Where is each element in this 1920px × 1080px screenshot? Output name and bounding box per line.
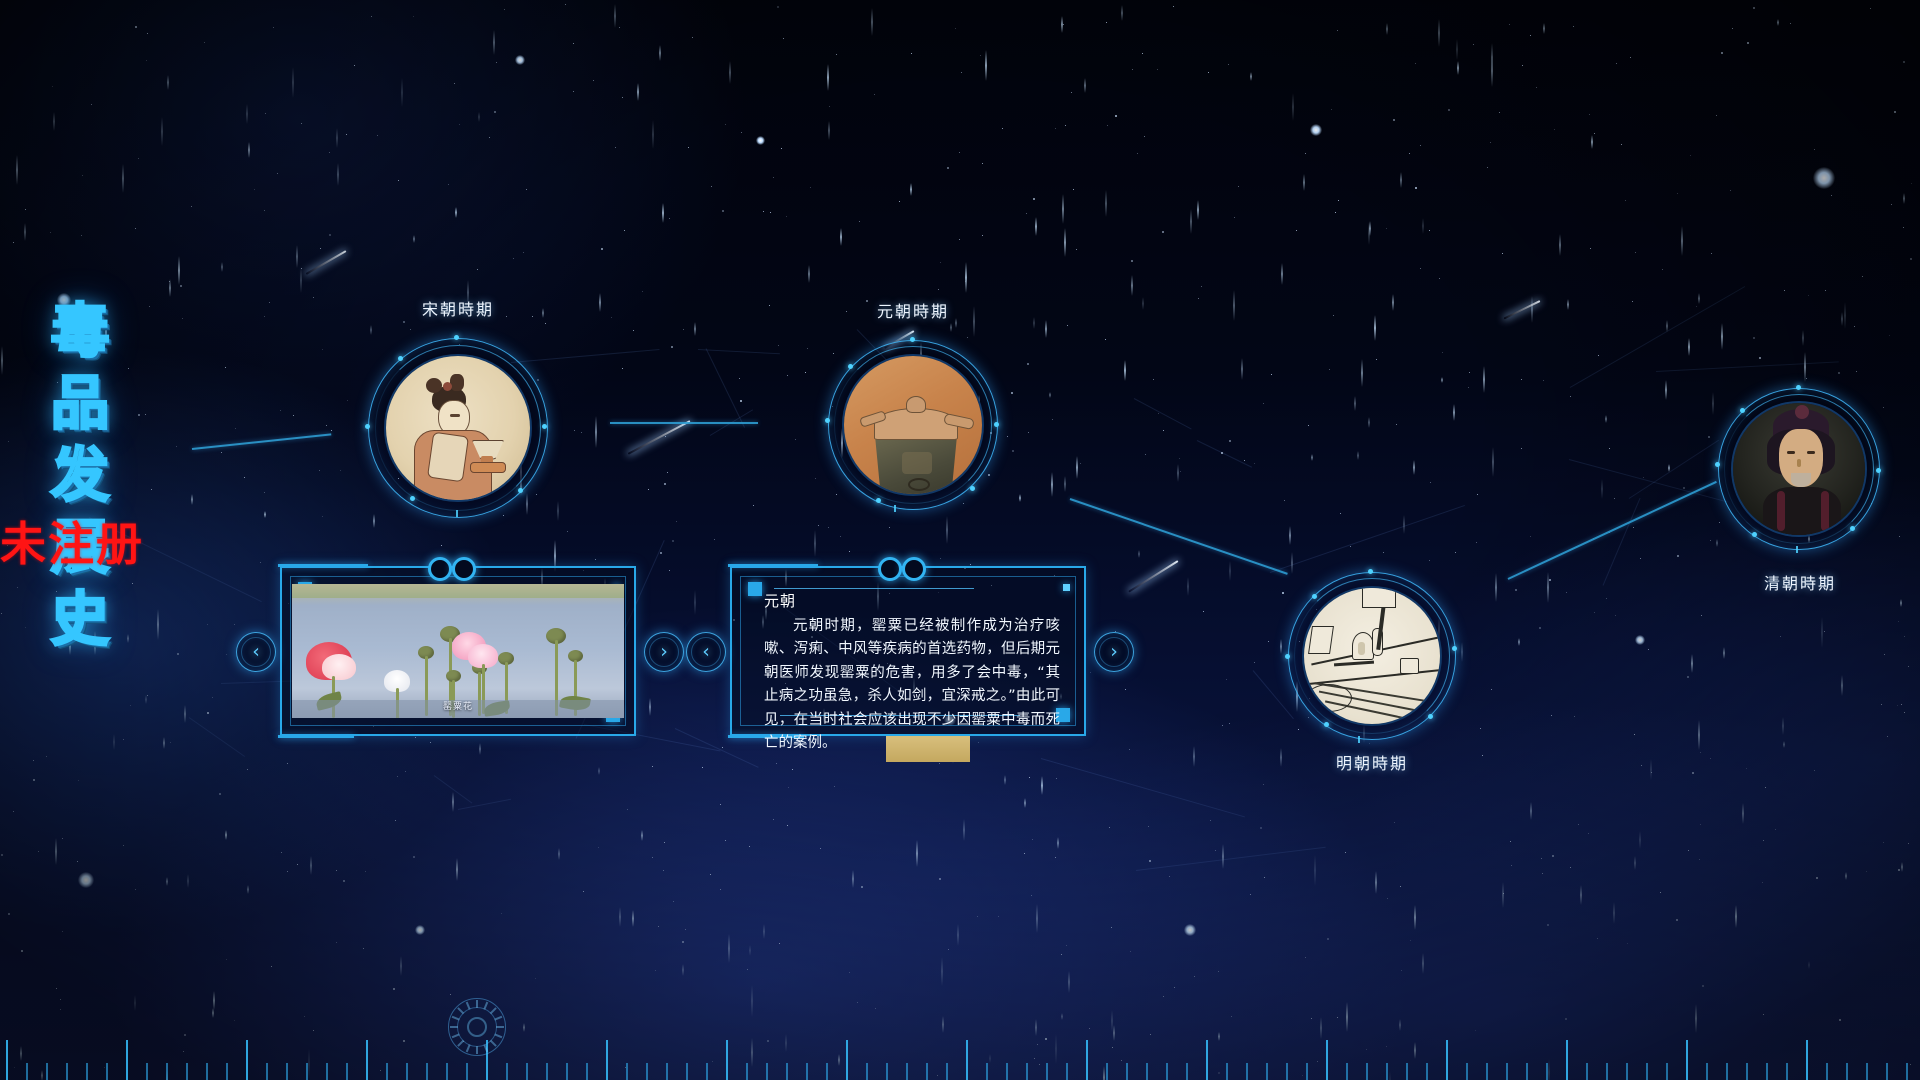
panel-hairline-top (774, 588, 974, 589)
panel-corner-top-left (748, 582, 762, 596)
panel-header-circle-left (878, 557, 902, 581)
page-title: 毒品发展史 (46, 300, 156, 660)
node-artwork-yuan (844, 356, 982, 494)
info-next-button[interactable]: › (1094, 632, 1134, 672)
panel-header-circle-right (902, 557, 926, 581)
info-swatch (886, 736, 970, 762)
timeline-node-song[interactable]: 宋朝時期 (368, 338, 548, 518)
timeline-node-yuan[interactable]: 元朝時期 (828, 340, 998, 510)
node-ring-inner (1302, 586, 1442, 726)
compass-icon (448, 998, 506, 1056)
node-artwork-ming (1304, 588, 1440, 724)
node-artwork-qing (1733, 403, 1865, 535)
page-title-text: 毒品发展史 (46, 300, 104, 660)
image-panel: 罂粟花 (280, 566, 636, 736)
node-ring-inner (1731, 401, 1867, 537)
vignette-overlay (0, 0, 1920, 1080)
image-prev-button[interactable]: ‹ (236, 632, 276, 672)
panel-bar-top-left (728, 564, 818, 567)
timeline-node-qing[interactable]: 清朝時期 (1718, 388, 1880, 550)
panel-header-circle-left (428, 557, 452, 581)
bottom-ruler (0, 1028, 1920, 1080)
node-label-song: 宋朝時期 (348, 296, 568, 320)
node-ring-inner (384, 354, 532, 502)
image-caption: 罂粟花 (292, 699, 624, 712)
node-ring-inner (842, 354, 984, 496)
connector-song-to-yuan (610, 422, 758, 424)
node-artwork-song (386, 356, 530, 500)
node-label-qing: 清朝時期 (1690, 570, 1910, 594)
node-label-yuan: 元朝時期 (803, 298, 1023, 322)
chevron-right-icon: › (1095, 643, 1133, 662)
info-prev-button[interactable]: ‹ (686, 632, 726, 672)
panel-bar-bottom-left (278, 735, 354, 738)
panel-corner-top-right (1063, 584, 1070, 591)
chevron-left-icon: ‹ (687, 643, 725, 662)
node-label-ming: 明朝時期 (1262, 750, 1482, 774)
info-content: 元朝 元朝时期，罂粟已经被制作成为治疗咳嗽、泻痢、中风等疾病的首选药物，但后期元… (764, 590, 1060, 756)
info-paragraph: 元朝时期，罂粟已经被制作成为治疗咳嗽、泻痢、中风等疾病的首选药物，但后期元朝医师… (764, 615, 1060, 756)
image-next-button[interactable]: › (644, 632, 684, 672)
chevron-right-icon: › (645, 643, 683, 662)
presentation-stage: 毒品发展史 未注册 (0, 0, 1920, 1080)
unregistered-watermark: 未注册 (0, 508, 170, 574)
poppy-image: 罂粟花 (292, 584, 624, 718)
panel-header-circle-right (452, 557, 476, 581)
chevron-left-icon: ‹ (237, 643, 275, 662)
info-heading: 元朝 (764, 590, 1060, 611)
info-panel: 元朝 元朝时期，罂粟已经被制作成为治疗咳嗽、泻痢、中风等疾病的首选药物，但后期元… (730, 566, 1086, 736)
panel-bar-top-left (278, 564, 368, 567)
timeline-node-ming[interactable]: 明朝時期 (1288, 572, 1456, 740)
